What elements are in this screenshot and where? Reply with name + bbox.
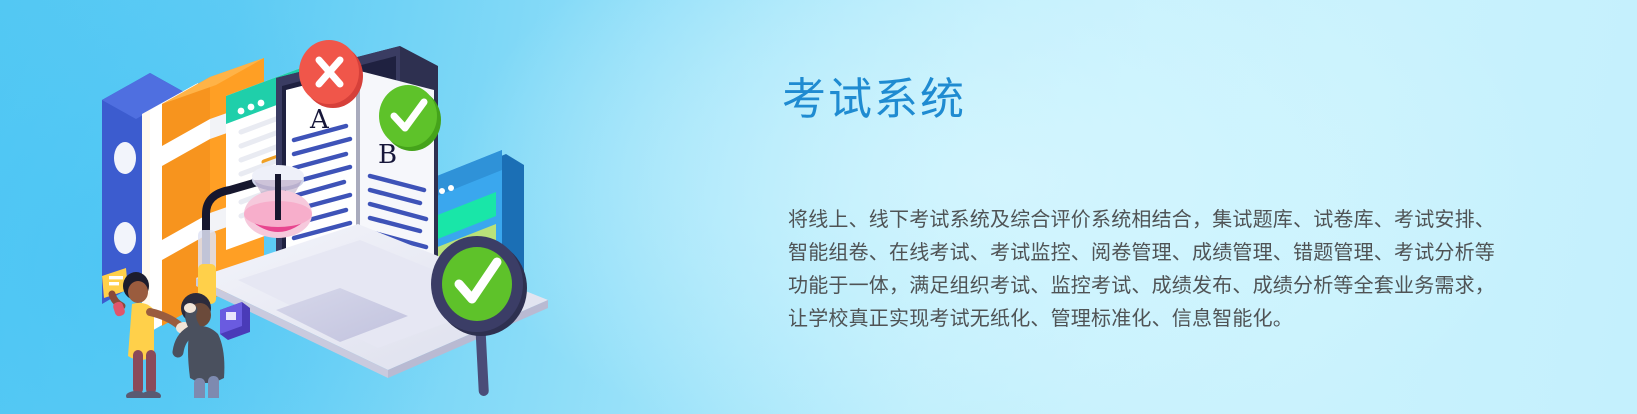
page-title: 考试系统	[782, 78, 1502, 122]
description-line: 让学校真正实现考试无纸化、管理标准化、信息智能化。	[788, 302, 1488, 335]
text-column: 考试系统 将线上、线下考试系统及综合评价系统相结合，集试题库、试卷库、考试安排、…	[782, 78, 1502, 122]
description-line: 智能组卷、在线考试、考试监控、阅卷管理、成绩管理、错题管理、考试分析等	[788, 236, 1488, 269]
illustration: A B	[78, 18, 618, 398]
description-line: 功能于一体，满足组织考试、监控考试、成绩发布、成绩分析等全套业务需求，	[788, 269, 1488, 302]
page-description: 将线上、线下考试系统及综合评价系统相结合，集试题库、试卷库、考试安排、 智能组卷…	[788, 203, 1488, 335]
description-line: 将线上、线下考试系统及综合评价系统相结合，集试题库、试卷库、考试安排、	[788, 203, 1488, 236]
exam-system-banner: A B	[0, 0, 1637, 414]
phone-card-icon	[220, 302, 250, 340]
magnifier-check-icon	[431, 236, 527, 396]
character-man-icon	[178, 293, 225, 398]
